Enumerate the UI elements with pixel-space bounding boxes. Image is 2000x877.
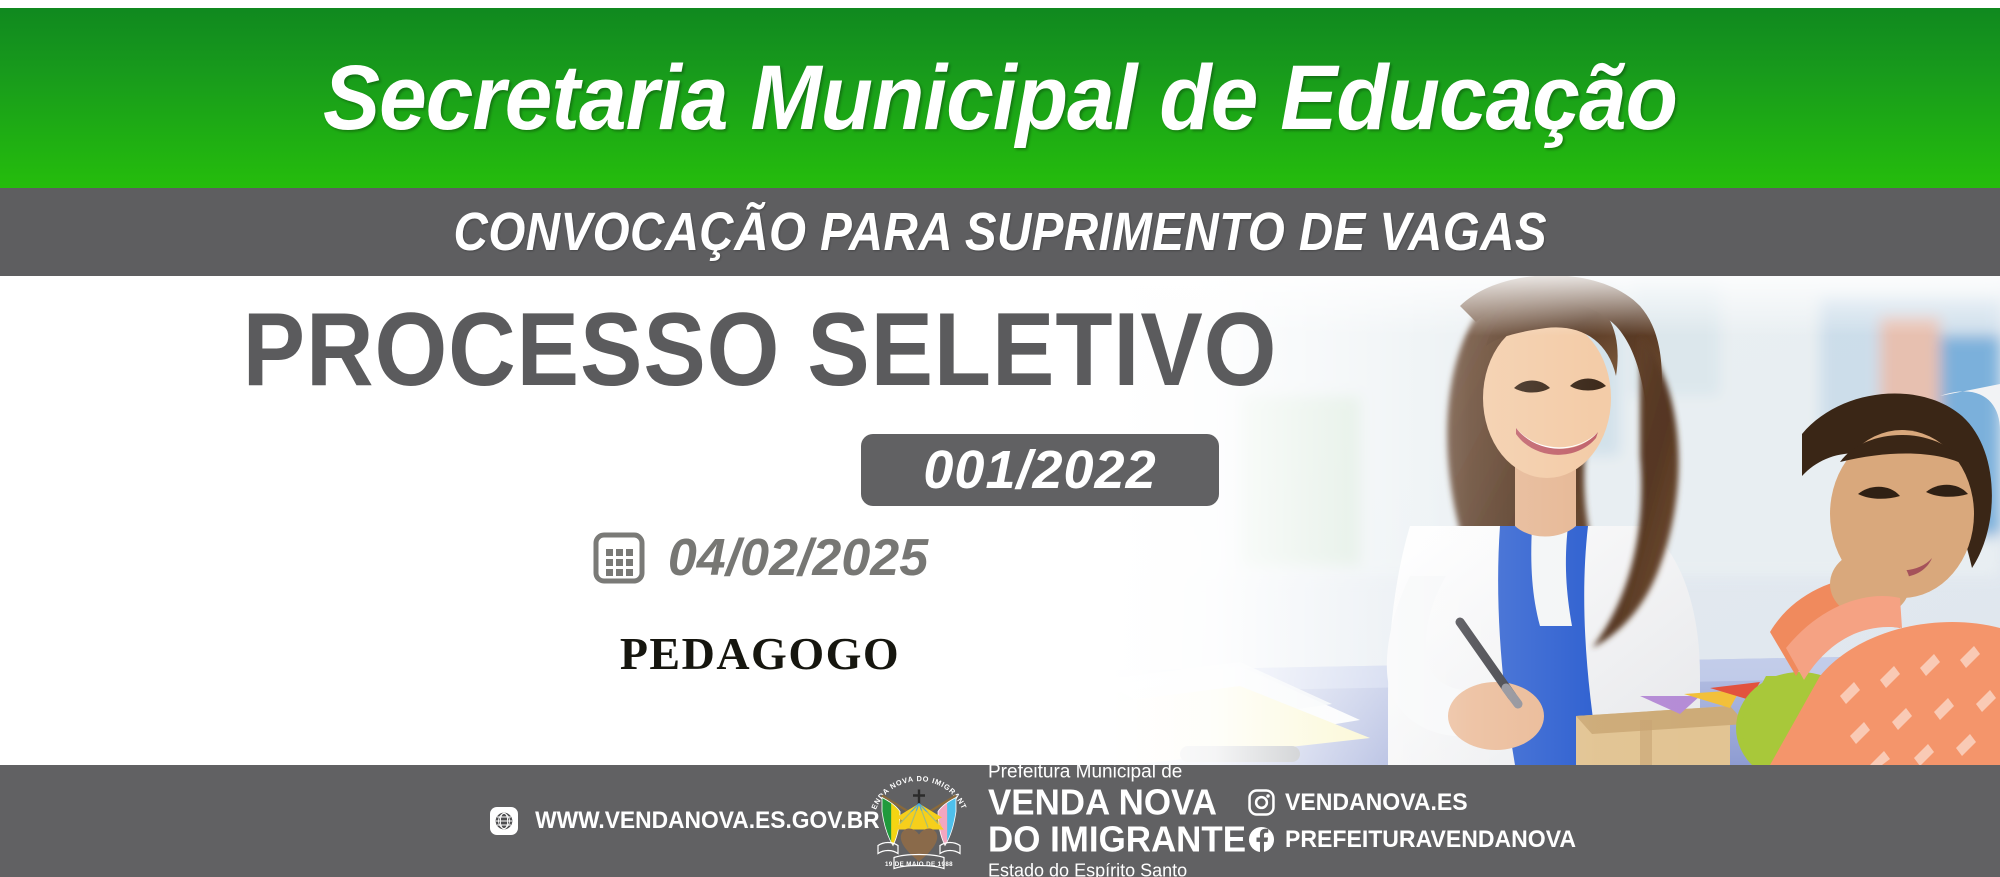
svg-text:19 DE MAIO DE 1988: 19 DE MAIO DE 1988 (885, 861, 953, 868)
brand-state: Estado do Espírito Santo (988, 858, 1254, 877)
coat-of-arms-icon: VENDA NOVA DO IMIGRANTE (860, 765, 978, 877)
website-url[interactable]: WWW.VENDANOVA.ES.GOV.BR (535, 809, 880, 833)
brand-text-lines: Prefeitura Municipal de VENDA NOVA DO IM… (988, 763, 1254, 877)
date-row: 04/02/2025 (0, 531, 1520, 585)
calendar-icon (592, 531, 646, 585)
instagram-handle[interactable]: VENDANOVA.ES (1285, 791, 1468, 815)
brand-lockup: VENDA NOVA DO IMIGRANTE (860, 763, 1254, 877)
process-number-badge: 001/2022 (861, 434, 1219, 506)
instagram-link[interactable]: VENDANOVA.ES (1248, 789, 1588, 816)
instagram-icon (1248, 789, 1275, 816)
facebook-handle[interactable]: PREFEITURAVENDANOVA (1285, 828, 1576, 852)
footer: WWW.VENDANOVA.ES.GOV.BR (0, 765, 2000, 877)
subtitle-band: CONVOCAÇÃO PARA SUPRIMENTO DE VAGAS (0, 188, 2000, 276)
brand-line-1: VENDA NOVA (988, 785, 1246, 821)
page-title: Secretaria Municipal de Educação (323, 52, 1677, 144)
subtitle-text: CONVOCAÇÃO PARA SUPRIMENTO DE VAGAS (453, 205, 1546, 259)
main-text-stack: PROCESSO SELETIVO 001/2022 (0, 276, 1620, 765)
globe-icon (490, 807, 518, 835)
facebook-link[interactable]: PREFEITURAVENDANOVA (1248, 826, 1588, 853)
process-title: PROCESSO SELETIVO (76, 298, 1444, 402)
globe-icon-glyph (494, 811, 514, 831)
brand-line-2: DO IMIGRANTE (988, 822, 1246, 858)
role-title: PEDAGOGO (0, 631, 1520, 677)
process-number-text: 001/2022 (923, 443, 1156, 497)
main-content: PROCESSO SELETIVO 001/2022 (0, 276, 2000, 765)
facebook-icon (1248, 826, 1275, 853)
date-text: 04/02/2025 (668, 532, 928, 584)
brand-prefix: Prefeitura Municipal de (988, 763, 1254, 784)
header-band: Secretaria Municipal de Educação (0, 8, 2000, 188)
social-links: VENDANOVA.ES PREFEITURAVENDANOVA (1248, 789, 1588, 853)
website-group[interactable]: WWW.VENDANOVA.ES.GOV.BR (490, 807, 889, 835)
convocation-banner: Secretaria Municipal de Educação CONVOCA… (0, 0, 2000, 877)
